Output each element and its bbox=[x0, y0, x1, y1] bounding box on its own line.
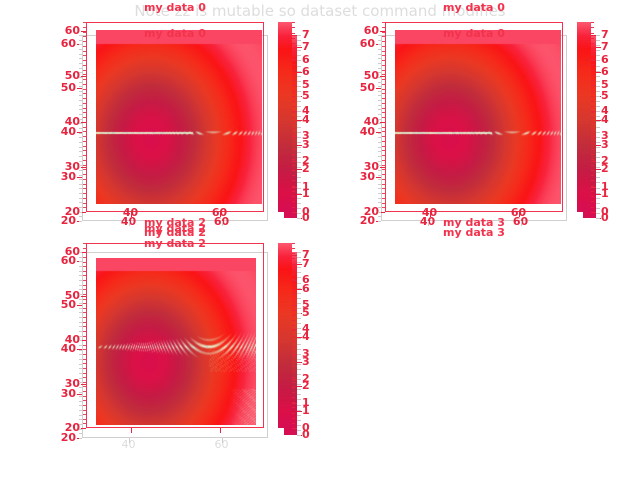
colorbar-tick-label-overlay: 4 bbox=[302, 330, 310, 343]
colorbar-minor-tick-overlay bbox=[297, 252, 301, 253]
y-minor-tick bbox=[83, 326, 86, 327]
colorbar-minor-tick-overlay bbox=[297, 394, 301, 395]
colorbar-tick-label-overlay: 7 bbox=[302, 257, 310, 270]
y-minor-tick-overlay bbox=[79, 354, 82, 355]
colorbar-minor-tick-overlay bbox=[297, 364, 301, 365]
y-minor-tick-overlay bbox=[79, 257, 82, 258]
y-minor-tick bbox=[83, 275, 86, 276]
colorbar-minor-tick bbox=[292, 258, 295, 259]
x-tick-mark bbox=[131, 428, 132, 433]
colorbar-minor-tick bbox=[292, 366, 295, 367]
y-tick-mark bbox=[81, 296, 86, 297]
y-minor-tick-overlay bbox=[79, 308, 82, 309]
y-minor-tick bbox=[83, 252, 86, 253]
y-minor-tick bbox=[83, 423, 86, 424]
y-minor-tick-overlay bbox=[79, 433, 82, 434]
y-minor-tick bbox=[83, 285, 86, 286]
y-minor-tick bbox=[83, 331, 86, 332]
colorbar-tick-label-overlay: 1 bbox=[302, 404, 310, 417]
y-minor-tick-overlay bbox=[79, 326, 82, 327]
y-minor-tick bbox=[83, 396, 86, 397]
y-minor-tick bbox=[83, 382, 86, 383]
y-minor-tick bbox=[83, 243, 86, 244]
colorbar-minor-tick-overlay bbox=[297, 313, 301, 314]
y-minor-tick-overlay bbox=[79, 336, 82, 337]
colorbar-minor-tick bbox=[292, 371, 295, 372]
y-minor-tick-overlay bbox=[79, 396, 82, 397]
y-minor-tick bbox=[83, 414, 86, 415]
y-minor-tick-overlay bbox=[79, 359, 82, 360]
colorbar-minor-tick-overlay bbox=[297, 415, 301, 416]
y-minor-tick bbox=[83, 419, 86, 420]
y-tick-label-overlay: 40 bbox=[50, 342, 76, 355]
y-minor-tick-overlay bbox=[79, 350, 82, 351]
colorbar-minor-tick bbox=[292, 392, 295, 393]
colorbar-minor-tick-overlay bbox=[297, 410, 301, 411]
y-minor-tick bbox=[83, 354, 86, 355]
y-minor-tick bbox=[83, 345, 86, 346]
colorbar-minor-tick bbox=[292, 387, 295, 388]
colorbar-minor-tick-overlay bbox=[297, 333, 301, 334]
colorbar-tick-label-overlay: 2 bbox=[302, 379, 310, 392]
colorbar-tick-label-overlay: 5 bbox=[302, 306, 310, 319]
x-tick-mark-overlay bbox=[129, 438, 130, 443]
colorbar-minor-tick bbox=[292, 264, 295, 265]
colorbar-canvas-primary bbox=[278, 243, 292, 428]
colorbar-minor-tick bbox=[292, 274, 295, 275]
y-minor-tick bbox=[83, 280, 86, 281]
y-minor-tick bbox=[83, 308, 86, 309]
colorbar-minor-tick bbox=[292, 402, 295, 403]
colorbar-minor-tick-overlay bbox=[297, 323, 301, 324]
y-minor-tick bbox=[83, 410, 86, 411]
y-minor-tick bbox=[83, 312, 86, 313]
y-minor-tick-overlay bbox=[79, 364, 82, 365]
y-minor-tick-overlay bbox=[79, 294, 82, 295]
colorbar-minor-tick bbox=[292, 294, 295, 295]
matplotlib-figure: Note zz is mutable so dataset command mo… bbox=[0, 0, 640, 480]
colorbar-minor-tick bbox=[292, 346, 295, 347]
axes-frame-primary bbox=[86, 243, 264, 428]
y-minor-tick-overlay bbox=[79, 345, 82, 346]
y-minor-tick bbox=[83, 257, 86, 258]
colorbar-tick-mark-overlay bbox=[297, 264, 302, 265]
y-minor-tick bbox=[83, 340, 86, 341]
colorbar-minor-tick-overlay bbox=[297, 354, 301, 355]
colorbar-tick-label-overlay: 0 bbox=[302, 428, 310, 441]
colorbar-minor-tick bbox=[292, 305, 295, 306]
y-minor-tick bbox=[83, 359, 86, 360]
y-minor-tick bbox=[83, 428, 86, 429]
colorbar-minor-tick-overlay bbox=[297, 298, 301, 299]
subplot-title-overlay: my data 2 bbox=[86, 222, 264, 235]
colorbar-minor-tick-overlay bbox=[297, 338, 301, 339]
colorbar-minor-tick bbox=[292, 397, 295, 398]
colorbar-minor-tick-overlay bbox=[297, 425, 301, 426]
colorbar-minor-tick-overlay bbox=[297, 359, 301, 360]
colorbar-minor-tick bbox=[292, 289, 295, 290]
y-minor-tick-overlay bbox=[79, 382, 82, 383]
colorbar-minor-tick-overlay bbox=[297, 384, 301, 385]
y-minor-tick-overlay bbox=[79, 271, 82, 272]
x-tick-mark-overlay bbox=[222, 438, 223, 443]
y-tick-mark-overlay bbox=[77, 305, 82, 306]
colorbar-minor-tick bbox=[292, 382, 295, 383]
y-minor-tick bbox=[83, 373, 86, 374]
colorbar-minor-tick-overlay bbox=[297, 430, 301, 431]
colorbar-minor-tick-overlay bbox=[297, 328, 301, 329]
y-minor-tick-overlay bbox=[79, 289, 82, 290]
colorbar-minor-tick bbox=[292, 407, 295, 408]
y-minor-tick-overlay bbox=[79, 275, 82, 276]
colorbar-minor-tick-overlay bbox=[297, 303, 301, 304]
y-tick-label-overlay: 20 bbox=[50, 431, 76, 444]
y-minor-tick-overlay bbox=[79, 303, 82, 304]
y-minor-tick bbox=[83, 349, 86, 350]
colorbar-tick-mark-overlay bbox=[297, 411, 302, 412]
y-minor-tick-overlay bbox=[79, 312, 82, 313]
colorbar-minor-tick-overlay bbox=[297, 277, 301, 278]
y-minor-tick bbox=[83, 294, 86, 295]
colorbar-minor-tick bbox=[292, 310, 295, 311]
colorbar-minor-tick-overlay bbox=[297, 435, 301, 436]
y-minor-tick-overlay bbox=[79, 340, 82, 341]
y-minor-tick-overlay bbox=[79, 373, 82, 374]
x-tick-mark bbox=[220, 428, 221, 433]
colorbar-minor-tick bbox=[292, 351, 295, 352]
colorbar-minor-tick-overlay bbox=[297, 369, 301, 370]
y-minor-tick-overlay bbox=[79, 261, 82, 262]
colorbar-minor-tick bbox=[292, 428, 295, 429]
colorbar-minor-tick-overlay bbox=[297, 389, 301, 390]
y-minor-tick-overlay bbox=[79, 252, 82, 253]
colorbar-minor-tick-overlay bbox=[297, 344, 301, 345]
y-minor-tick bbox=[83, 317, 86, 318]
colorbar-tick-mark bbox=[292, 280, 297, 281]
y-minor-tick-overlay bbox=[79, 285, 82, 286]
y-tick-label-overlay: 60 bbox=[50, 254, 76, 267]
colorbar-minor-tick bbox=[292, 253, 295, 254]
subplot-bottom-left: my data 2my data 26060505040403030202040… bbox=[0, 0, 640, 480]
colorbar-minor-tick-overlay bbox=[297, 267, 301, 268]
y-minor-tick bbox=[83, 248, 86, 249]
y-minor-tick-overlay bbox=[79, 438, 82, 439]
colorbar-minor-tick bbox=[292, 418, 295, 419]
colorbar-minor-tick bbox=[292, 320, 295, 321]
y-minor-tick-overlay bbox=[79, 424, 82, 425]
y-minor-tick bbox=[83, 386, 86, 387]
colorbar-minor-tick bbox=[292, 269, 295, 270]
colorbar-minor-tick bbox=[292, 315, 295, 316]
colorbar-tick-label-overlay: 3 bbox=[302, 355, 310, 368]
colorbar-minor-tick bbox=[292, 330, 295, 331]
y-minor-tick bbox=[83, 299, 86, 300]
y-minor-tick bbox=[83, 289, 86, 290]
colorbar-minor-tick-overlay bbox=[297, 257, 301, 258]
colorbar-tick-mark-overlay bbox=[297, 289, 302, 290]
y-minor-tick bbox=[83, 368, 86, 369]
y-minor-tick-overlay bbox=[79, 280, 82, 281]
colorbar-minor-tick bbox=[292, 361, 295, 362]
y-minor-tick bbox=[83, 400, 86, 401]
colorbar-minor-tick-overlay bbox=[297, 379, 301, 380]
y-minor-tick-overlay bbox=[79, 405, 82, 406]
colorbar-minor-tick-overlay bbox=[297, 272, 301, 273]
colorbar-tick-mark-overlay bbox=[297, 362, 302, 363]
colorbar-minor-tick bbox=[292, 325, 295, 326]
y-minor-tick bbox=[83, 322, 86, 323]
subplot-title: my data 2 bbox=[82, 237, 268, 250]
y-minor-tick-overlay bbox=[79, 322, 82, 323]
colorbar-minor-tick bbox=[292, 341, 295, 342]
colorbar-minor-tick bbox=[292, 413, 295, 414]
y-minor-tick-overlay bbox=[79, 331, 82, 332]
y-minor-tick bbox=[83, 266, 86, 267]
y-minor-tick bbox=[83, 262, 86, 263]
colorbar-tick-label-overlay: 6 bbox=[302, 282, 310, 295]
colorbar-minor-tick-overlay bbox=[297, 288, 301, 289]
colorbar-minor-tick-overlay bbox=[297, 349, 301, 350]
y-minor-tick bbox=[83, 303, 86, 304]
y-minor-tick-overlay bbox=[79, 266, 82, 267]
y-minor-tick-overlay bbox=[79, 401, 82, 402]
colorbar-minor-tick bbox=[292, 336, 295, 337]
colorbar-minor-tick bbox=[292, 356, 295, 357]
colorbar-minor-tick-overlay bbox=[297, 405, 301, 406]
y-minor-tick-overlay bbox=[79, 299, 82, 300]
y-minor-tick bbox=[83, 271, 86, 272]
y-minor-tick-overlay bbox=[79, 419, 82, 420]
colorbar-minor-tick-overlay bbox=[297, 318, 301, 319]
y-minor-tick-overlay bbox=[79, 410, 82, 411]
y-tick-label-overlay: 50 bbox=[50, 298, 76, 311]
y-minor-tick-overlay bbox=[79, 429, 82, 430]
colorbar-minor-tick-overlay bbox=[297, 283, 301, 284]
y-minor-tick-overlay bbox=[79, 317, 82, 318]
colorbar-tick-mark-overlay bbox=[297, 386, 302, 387]
colorbar-minor-tick bbox=[292, 300, 295, 301]
colorbar-minor-tick-overlay bbox=[297, 308, 301, 309]
colorbar-minor-tick-overlay bbox=[297, 420, 301, 421]
colorbar-minor-tick-overlay bbox=[297, 262, 301, 263]
colorbar-minor-tick-overlay bbox=[297, 399, 301, 400]
colorbar-primary bbox=[278, 243, 292, 428]
colorbar-minor-tick bbox=[292, 243, 295, 244]
colorbar-minor-tick bbox=[292, 279, 295, 280]
colorbar-minor-tick bbox=[292, 284, 295, 285]
y-minor-tick-overlay bbox=[79, 368, 82, 369]
colorbar-minor-tick bbox=[292, 377, 295, 378]
colorbar-minor-tick bbox=[292, 248, 295, 249]
y-minor-tick-overlay bbox=[79, 392, 82, 393]
y-minor-tick bbox=[83, 363, 86, 364]
y-minor-tick bbox=[83, 377, 86, 378]
y-minor-tick bbox=[83, 391, 86, 392]
y-tick-label-overlay: 30 bbox=[50, 387, 76, 400]
colorbar-minor-tick-overlay bbox=[297, 374, 301, 375]
y-minor-tick bbox=[83, 336, 86, 337]
colorbar-minor-tick bbox=[292, 423, 295, 424]
y-minor-tick bbox=[83, 405, 86, 406]
y-minor-tick-overlay bbox=[79, 387, 82, 388]
y-tick-mark-overlay bbox=[77, 394, 82, 395]
y-tick-mark bbox=[81, 384, 86, 385]
y-minor-tick-overlay bbox=[79, 378, 82, 379]
colorbar-minor-tick-overlay bbox=[297, 293, 301, 294]
y-minor-tick-overlay bbox=[79, 415, 82, 416]
